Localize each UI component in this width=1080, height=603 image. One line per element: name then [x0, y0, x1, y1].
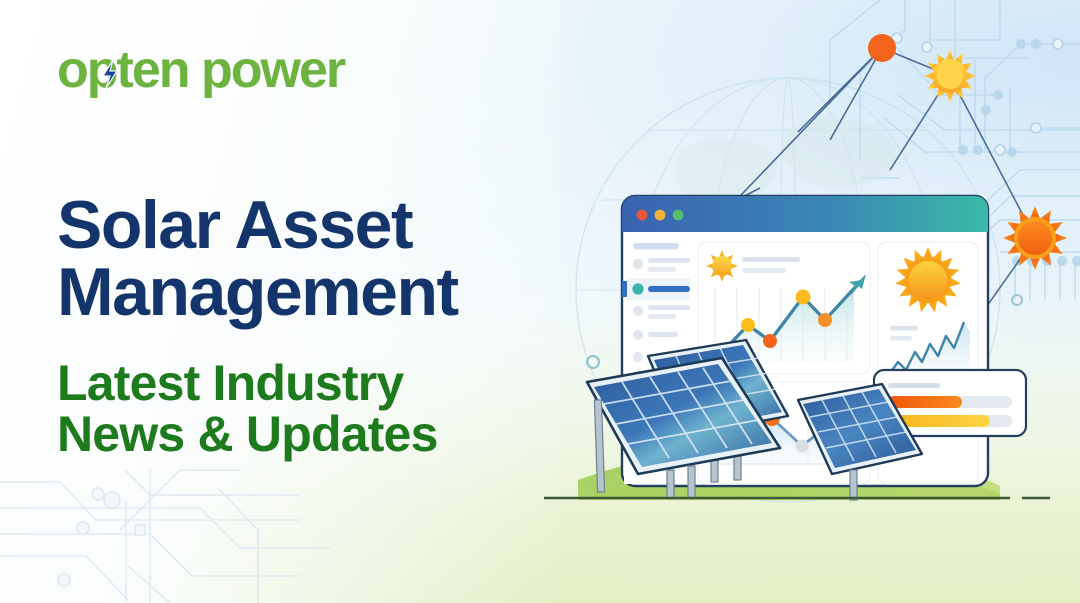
lightning-bolt-icon [103, 60, 117, 88]
node-sun-yellow [924, 50, 976, 102]
window-controls[interactable] [637, 210, 684, 221]
node-ring-small [1012, 295, 1022, 305]
node-sun-orange [1003, 206, 1067, 270]
page-title: Solar Asset Management [57, 192, 597, 325]
page-subtitle: Latest Industry News & Updates [57, 358, 527, 460]
progress-card-title [888, 383, 940, 388]
close-icon [637, 210, 648, 221]
minimize-icon [655, 210, 666, 221]
sidebar-title-placeholder [633, 243, 679, 250]
sun-icon [706, 250, 738, 282]
solar-asset-dashboard-illustration [530, 0, 1080, 603]
subhead-line-1: Latest Industry [57, 355, 403, 411]
subhead-line-2: News & Updates [57, 409, 527, 460]
hero-banner: opten power Solar Asset Management Lates… [0, 0, 1080, 603]
headline-line-2: Management [57, 259, 597, 326]
node-orange-dot [868, 34, 896, 62]
progress-bar-orange [888, 396, 962, 408]
headline-line-1: Solar Asset [57, 187, 412, 263]
maximize-icon [673, 210, 684, 221]
card-title-placeholder [742, 257, 800, 262]
logo-bolt-overlay [57, 42, 387, 102]
sidebar-item-2-active[interactable] [622, 278, 690, 300]
card-subtitle-placeholder [742, 268, 786, 273]
